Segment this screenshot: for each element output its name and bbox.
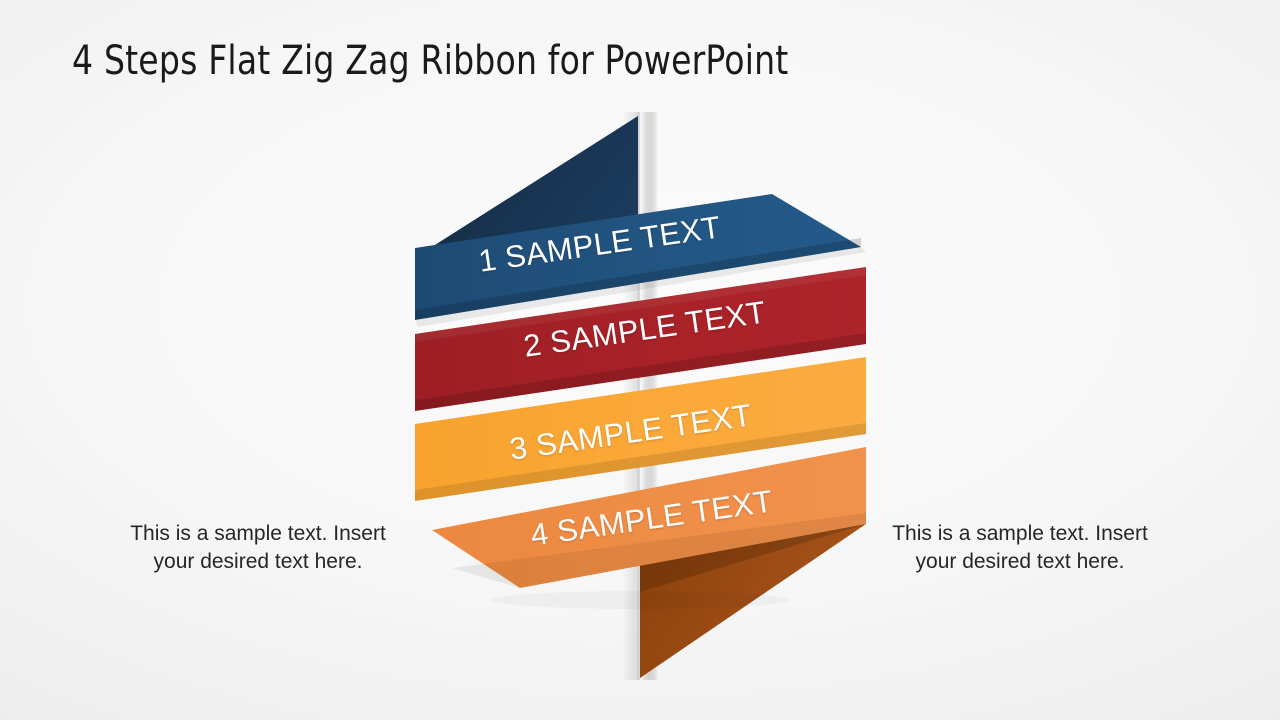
bottom-fold-shade xyxy=(640,524,866,592)
page-title: 4 Steps Flat Zig Zag Ribbon for PowerPoi… xyxy=(72,38,788,84)
slide-canvas: 4 Steps Flat Zig Zag Ribbon for PowerPoi… xyxy=(0,0,1280,720)
ribbon-centre-seam xyxy=(622,112,658,680)
band-3-label: 3 SAMPLE TEXT xyxy=(507,397,754,467)
band-2-label: 2 SAMPLE TEXT xyxy=(521,294,768,364)
ribbon-ground-shadow xyxy=(490,591,790,609)
caption-right: This is a sample text. Insert your desir… xyxy=(880,520,1160,576)
band-1-label: 1 SAMPLE TEXT xyxy=(476,209,723,279)
bottom-fold-shape xyxy=(640,524,866,678)
caption-left: This is a sample text. Insert your desir… xyxy=(118,520,398,576)
zigzag-ribbon-graphic xyxy=(0,0,1280,720)
band-4-label: 4 SAMPLE TEXT xyxy=(528,483,775,553)
